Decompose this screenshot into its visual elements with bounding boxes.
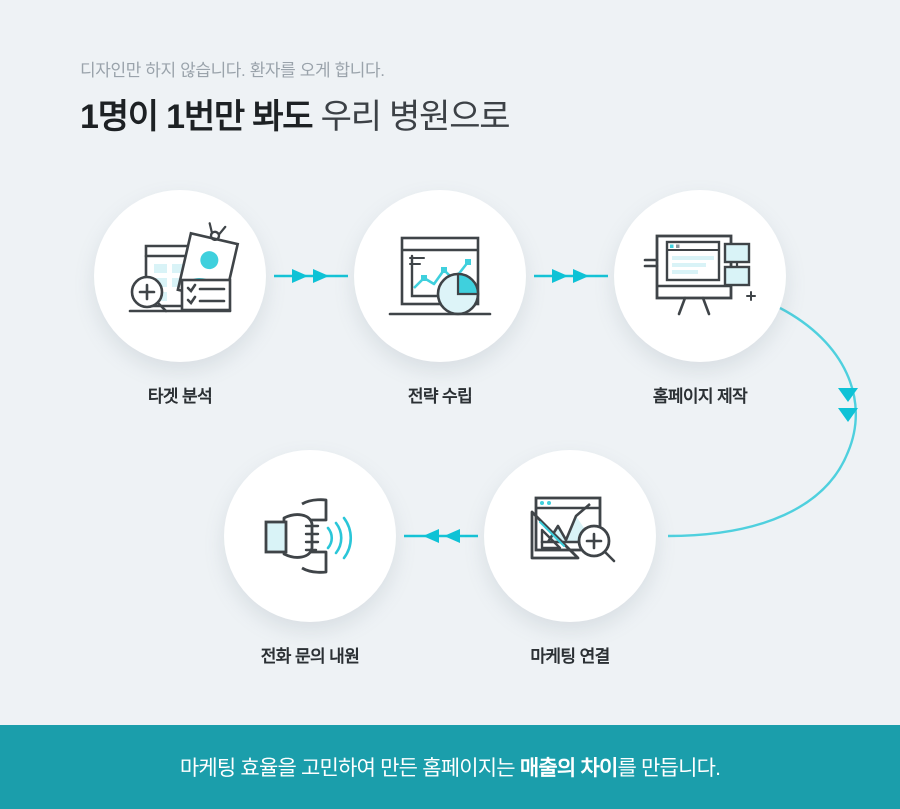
page-title-rest: 우리 병원으로 bbox=[312, 98, 509, 136]
flow-step-3[interactable]: 홈페이지 제작 bbox=[610, 190, 790, 407]
footer-banner-text: 마케팅 효율을 고민하여 만든 홈페이지는 매출의 차이를 만듭니다. bbox=[180, 752, 720, 782]
connector-2-to-3 bbox=[534, 269, 608, 283]
website-board-icon bbox=[639, 222, 761, 330]
flow-step-1-label: 타겟 분석 bbox=[90, 382, 270, 407]
header: 디자인만 하지 않습니다. 환자를 오게 합니다. 1명이 1번만 봐도 우리 … bbox=[80, 60, 820, 139]
page-title-strong: 1명이 1번만 봐도 bbox=[80, 98, 312, 136]
banner-text-strong: 매출의 차이 bbox=[520, 757, 618, 780]
flow-step-3-bubble bbox=[614, 190, 786, 362]
flow-step-3-label: 홈페이지 제작 bbox=[610, 382, 790, 407]
banner-text-before: 마케팅 효율을 고민하여 만든 홈페이지는 bbox=[180, 757, 520, 780]
phone-call-hand-icon bbox=[250, 482, 370, 590]
marketing-analytics-icon bbox=[510, 482, 630, 590]
footer-banner: 마케팅 효율을 고민하여 만든 홈페이지는 매출의 차이를 만듭니다. bbox=[0, 725, 900, 809]
flow-step-1[interactable]: 타겟 분석 bbox=[90, 190, 270, 407]
flow-step-5-bubble bbox=[224, 450, 396, 622]
flow-step-2-bubble bbox=[354, 190, 526, 362]
flow-step-4[interactable]: 마케팅 연결 bbox=[480, 450, 660, 667]
header-subtitle: 디자인만 하지 않습니다. 환자를 오게 합니다. bbox=[80, 60, 820, 82]
process-flow: 타겟 분석 bbox=[0, 190, 900, 690]
connector-4-to-5 bbox=[404, 529, 478, 543]
flow-step-1-bubble bbox=[94, 190, 266, 362]
connector-1-to-2 bbox=[274, 269, 348, 283]
flow-step-4-label: 마케팅 연결 bbox=[480, 642, 660, 667]
flow-step-5-label: 전화 문의 내원 bbox=[220, 642, 400, 667]
page-title: 1명이 1번만 봐도 우리 병원으로 bbox=[80, 96, 820, 139]
flow-step-2[interactable]: 전략 수립 bbox=[350, 190, 530, 407]
strategy-chart-icon bbox=[380, 222, 500, 330]
target-analysis-icon bbox=[120, 222, 240, 330]
infographic-page: 디자인만 하지 않습니다. 환자를 오게 합니다. 1명이 1번만 봐도 우리 … bbox=[0, 0, 900, 809]
flow-step-2-label: 전략 수립 bbox=[350, 382, 530, 407]
flow-step-5[interactable]: 전화 문의 내원 bbox=[220, 450, 400, 667]
banner-text-after: 를 만듭니다. bbox=[617, 757, 720, 780]
flow-step-4-bubble bbox=[484, 450, 656, 622]
